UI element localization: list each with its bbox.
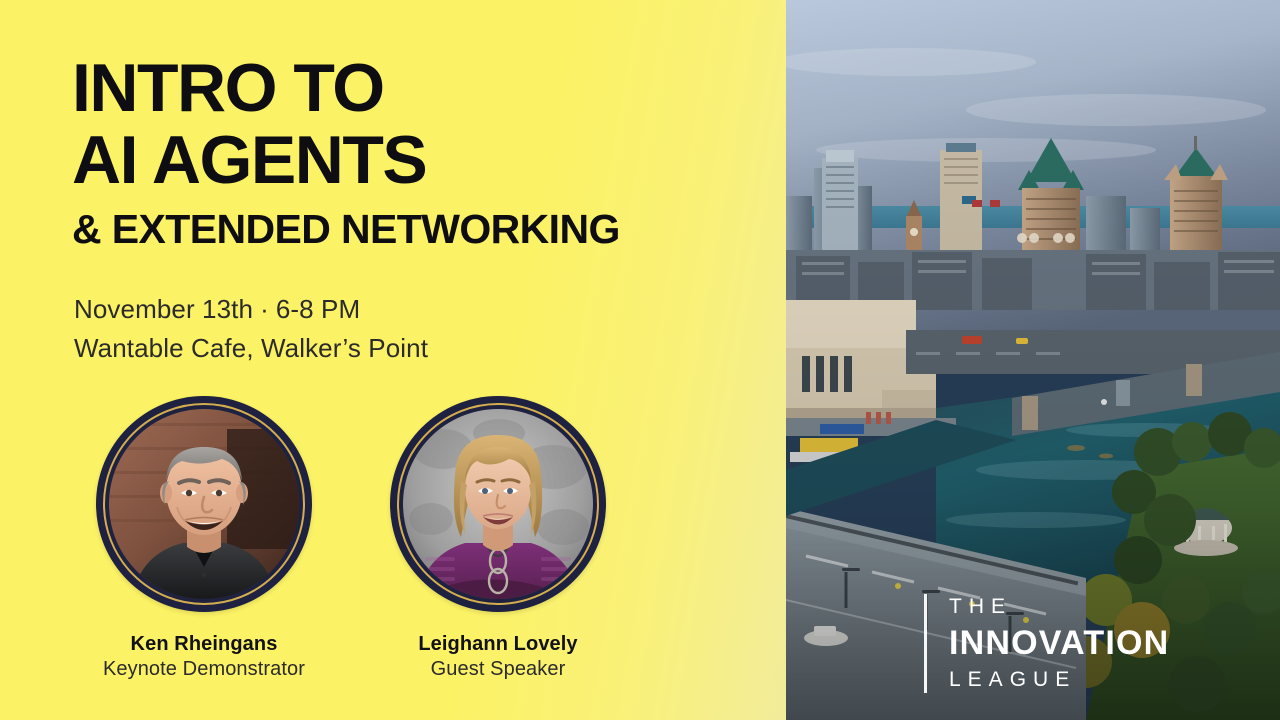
speaker-role: Keynote Demonstrator xyxy=(103,658,305,681)
title-subtitle: & EXTENDED NETWORKING xyxy=(72,208,752,251)
logo-line-league: LEAGUE xyxy=(949,667,1169,693)
avatar xyxy=(390,396,606,612)
speaker-card: Leighann Lovely Guest Speaker xyxy=(390,396,606,681)
avatar-gold-ring xyxy=(397,403,599,605)
event-date-time-line: November 13th·6-8 PM xyxy=(74,290,428,329)
logo-wordmark: THE INNOVATION LEAGUE xyxy=(949,594,1169,693)
title-line-1: INTRO TO xyxy=(72,56,752,122)
event-poster: INTRO TO AI AGENTS & EXTENDED NETWORKING… xyxy=(0,0,1280,720)
avatar xyxy=(96,396,312,612)
innovation-league-logo: THE INNOVATION LEAGUE xyxy=(924,594,1169,693)
logo-divider-rule xyxy=(924,594,927,693)
speaker-card: Ken Rheingans Keynote Demonstrator xyxy=(96,396,312,681)
event-date: November 13th xyxy=(74,294,253,324)
event-details-block: November 13th·6-8 PM Wantable Cafe, Walk… xyxy=(74,290,428,368)
speakers-row: Ken Rheingans Keynote Demonstrator xyxy=(96,396,696,681)
avatar-gold-ring xyxy=(103,403,305,605)
date-time-separator: · xyxy=(253,294,276,324)
speaker-role: Guest Speaker xyxy=(431,658,566,681)
city-skyline-photo: THE INNOVATION LEAGUE xyxy=(786,0,1280,720)
logo-line-innovation: INNOVATION xyxy=(949,623,1169,664)
speaker-name: Leighann Lovely xyxy=(418,633,577,656)
event-venue: Wantable Cafe, Walker’s Point xyxy=(74,329,428,368)
event-time: 6-8 PM xyxy=(276,294,360,324)
title-line-2: AI AGENTS xyxy=(72,128,752,194)
title-block: INTRO TO AI AGENTS & EXTENDED NETWORKING xyxy=(72,56,752,251)
speaker-name: Ken Rheingans xyxy=(131,633,278,656)
logo-line-the: THE xyxy=(949,594,1169,620)
